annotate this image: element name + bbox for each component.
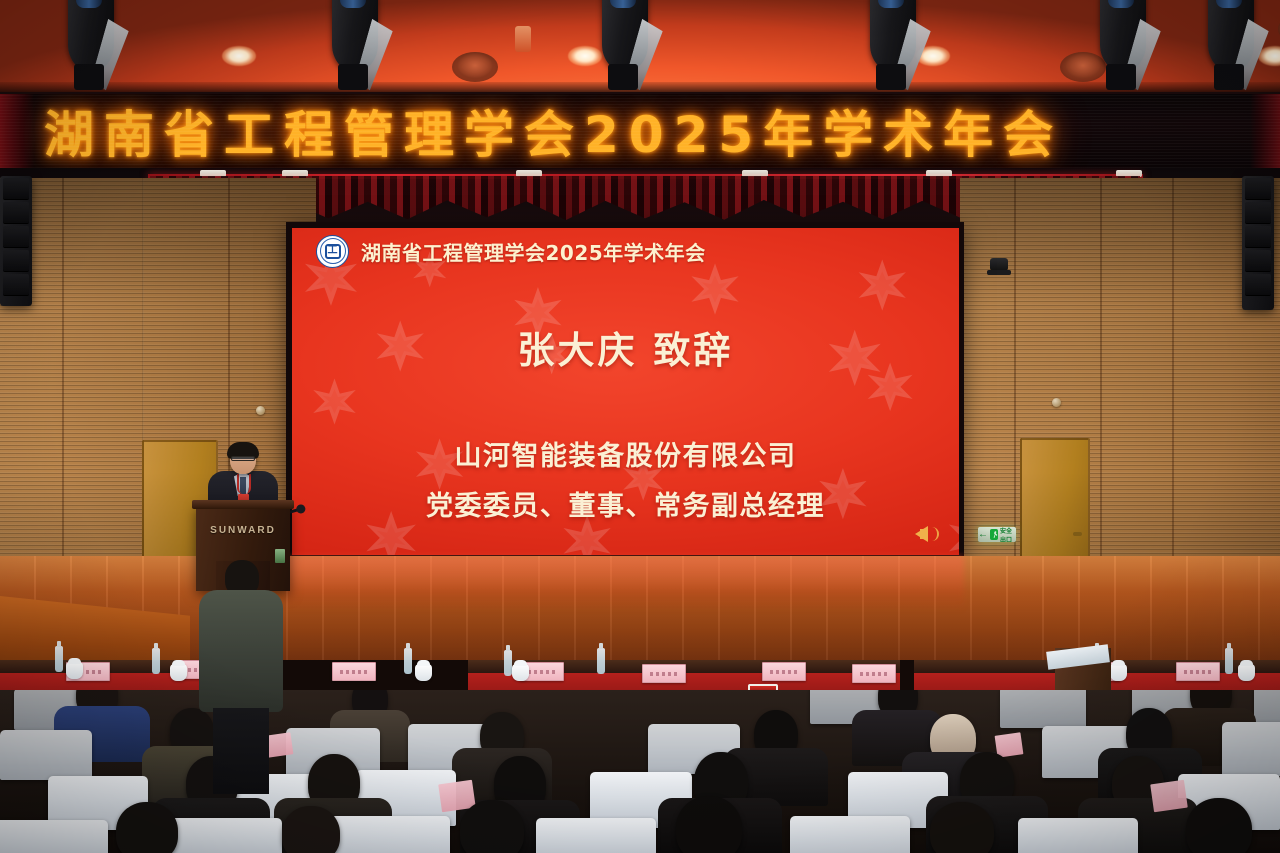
running-man-icon [990, 529, 998, 540]
fixture-lens [610, 0, 636, 8]
fixture-mount [1214, 64, 1244, 90]
attendee-head [676, 796, 742, 853]
society-logo-icon: 工 [316, 235, 349, 268]
standing-attendee [199, 560, 283, 790]
recessed-light [452, 52, 498, 82]
stage-light-fixture [62, 0, 120, 94]
affiliation-line-2: 党委委员、董事、常务副总经理 [426, 484, 825, 523]
stage-light-fixture [864, 0, 922, 94]
speaker-cabinet [3, 178, 29, 200]
auditorium-scene: 湖南省工程管理学会2025年学术年会 [0, 0, 1280, 853]
speaker-cabinet [3, 226, 29, 248]
water-bottle [1225, 648, 1233, 674]
strip-light [515, 26, 531, 52]
fixture-mount [608, 64, 638, 90]
name-card [762, 662, 806, 681]
water-bottle [404, 648, 412, 674]
rail-lamp [516, 170, 542, 177]
downlight [222, 46, 256, 66]
speaker-mute-icon [915, 523, 941, 545]
logo-ring [320, 238, 346, 264]
standing-attendee-legs [213, 708, 269, 794]
audience-chair [0, 820, 108, 853]
tea-cup [170, 664, 187, 681]
screen-header: 工 湖南省工程管理学会2025年学术年会 [292, 228, 959, 274]
lanyard-icon [237, 474, 251, 494]
tea-cup [1238, 664, 1255, 681]
led-pixel-grid [0, 94, 1280, 168]
fixture-lens [1216, 0, 1242, 8]
exit-sign: ← 安全出口 [978, 527, 1016, 542]
audience-area [0, 690, 1280, 853]
water-bottle [504, 650, 512, 676]
exit-sign-label: 安全出口 [1000, 527, 1016, 542]
screen-body: 张大庆 致辞 山河智能装备股份有限公司 党委委员、董事、常务副总经理 [292, 286, 959, 523]
projection-screen[interactable]: 工 湖南省工程管理学会2025年学术年会 张大庆 致辞 山河智能装备股份有限公司… [292, 228, 959, 555]
tea-cup [512, 664, 529, 681]
rail-lamp [742, 170, 768, 177]
standing-attendee-jacket [199, 590, 283, 712]
speaker-cabinet [1245, 250, 1271, 272]
audience-chair [1000, 690, 1086, 728]
name-card [852, 664, 896, 683]
pink-handout [1150, 780, 1188, 812]
fixture-mount [338, 64, 368, 90]
speaker-cabinet [3, 202, 29, 224]
speaker-cabinet [3, 250, 29, 272]
tea-cup [415, 664, 432, 681]
rail-lamp [926, 170, 952, 177]
stage-light-fixture [326, 0, 384, 94]
lectern-papers [1046, 644, 1110, 669]
speaker-cabinet [1245, 226, 1271, 248]
audience-chair [1222, 722, 1280, 776]
audience-chair [164, 818, 282, 853]
water-bottle [152, 648, 160, 674]
fixture-mount [1106, 64, 1136, 90]
fixture-lens [340, 0, 366, 8]
glasses-icon [231, 456, 255, 461]
rail-lamp [282, 170, 308, 177]
fixture-lens [1108, 0, 1134, 8]
left-arrow-icon: ← [978, 530, 988, 540]
speaker-cabinet [1245, 274, 1271, 296]
fixture-lens [76, 0, 102, 8]
camera-icon [990, 258, 1008, 271]
fixture-lens [878, 0, 904, 8]
fixture-mount [876, 64, 906, 90]
audience-chair [536, 818, 656, 853]
podium-top [192, 500, 294, 509]
rail-lamp [200, 170, 226, 177]
speaker-cabinet [1245, 178, 1271, 200]
audience-chair [0, 730, 92, 780]
led-banner: 湖南省工程管理学会2025年学术年会 [0, 92, 1280, 170]
name-card [642, 664, 686, 683]
audience-chair [790, 816, 910, 853]
podium-brand-label: SUNWARD [196, 525, 290, 536]
stage-light-fixture [596, 0, 654, 94]
affiliation-line-1: 山河智能装备股份有限公司 [455, 434, 797, 473]
attendee-head [1186, 798, 1252, 853]
rail-lamp [1116, 170, 1142, 177]
speaker-cabinet [1245, 202, 1271, 224]
stage-light-fixture [1202, 0, 1260, 94]
tea-cup [66, 662, 83, 679]
line-array-speaker-right [1242, 176, 1274, 310]
line-array-speaker-left [0, 176, 32, 306]
projection-screen-frame: 工 湖南省工程管理学会2025年学术年会 张大庆 致辞 山河智能装备股份有限公司… [286, 222, 964, 560]
audience-chair [330, 816, 450, 853]
name-card [332, 662, 376, 681]
attendee-head [282, 806, 340, 853]
mute-wave [932, 527, 939, 541]
mute-box [920, 529, 927, 539]
speaker-name-line: 张大庆 致辞 [518, 320, 734, 374]
water-bottle [55, 646, 63, 672]
speaker-cabinet [3, 274, 29, 296]
tea-cup [1110, 664, 1127, 681]
screen-header-title: 湖南省工程管理学会2025年学术年会 [361, 237, 706, 266]
attendee-head [460, 800, 524, 853]
fixture-mount [74, 64, 104, 90]
stage-light-fixture [1094, 0, 1152, 94]
audience-chair [1018, 818, 1138, 853]
name-card [1176, 662, 1220, 681]
attendee-head [116, 802, 178, 853]
water-bottle [597, 648, 605, 674]
attendee-head [930, 802, 994, 853]
